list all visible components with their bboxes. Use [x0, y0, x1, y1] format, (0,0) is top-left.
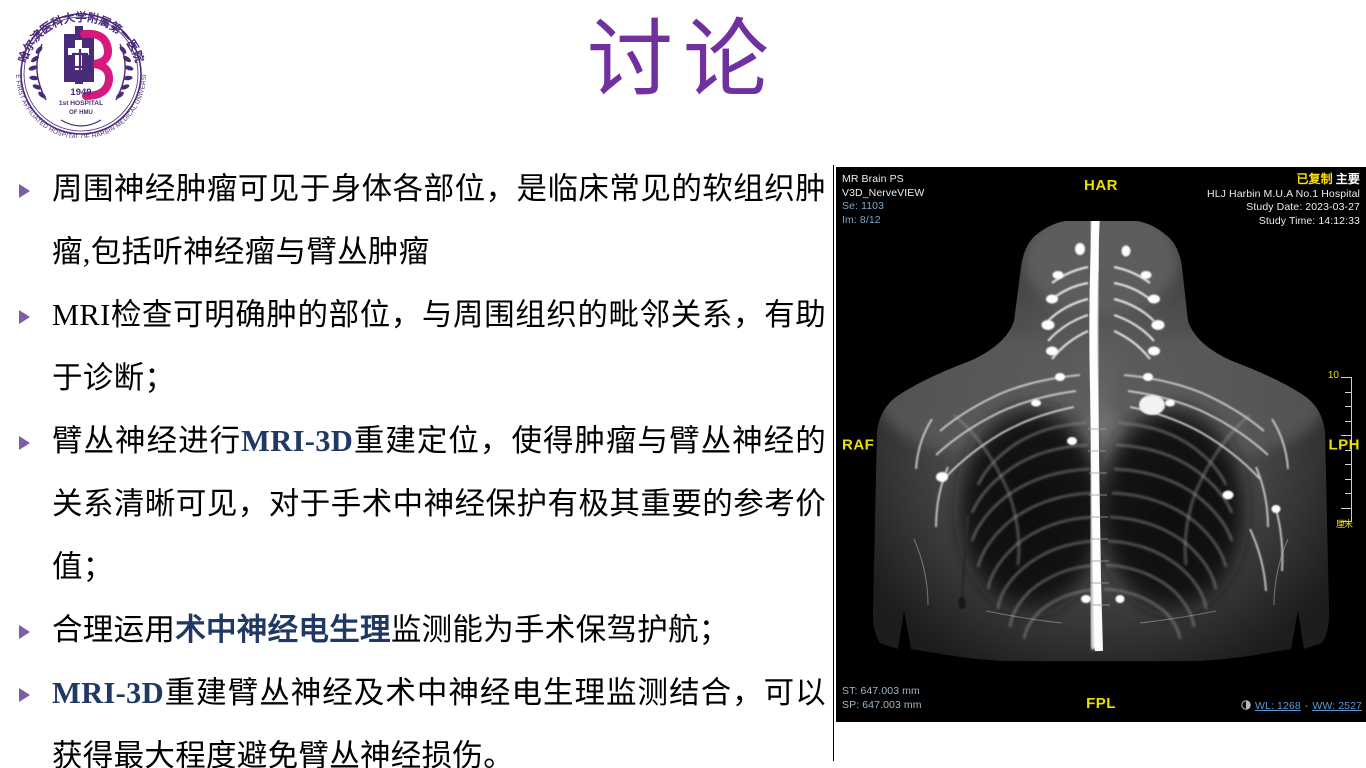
ruler-tick — [1341, 377, 1352, 378]
ruler-tick — [1341, 435, 1352, 436]
mri-viewer-panel[interactable]: MR Brain PS V3D_NerveVIEW Se: 1103 Im: 8… — [836, 167, 1366, 722]
list-item: 周围神经肿瘤可见于身体各部位，是临床常见的软组织肿瘤,包括听神经瘤与臂丛肿瘤 — [8, 158, 826, 284]
ruler-tick — [1345, 464, 1352, 465]
mri-slice-position: SP: 647.003 mm — [842, 699, 922, 713]
mri-primary-badge: 主要 — [1336, 172, 1360, 186]
bullet-list: 周围神经肿瘤可见于身体各部位，是临床常见的软组织肿瘤,包括听神经瘤与臂丛肿瘤 M… — [8, 158, 826, 760]
mri-copied-badge: 已复制 — [1296, 172, 1332, 186]
list-item: 合理运用术中神经电生理监测能为手术保驾护航； — [8, 599, 826, 662]
mri-series-number: Se: 1103 — [842, 200, 924, 214]
content-divider — [833, 165, 834, 761]
ruler-tick — [1345, 493, 1352, 494]
bullet-highlight-neuromonitoring: 术中神经电生理 — [175, 613, 391, 647]
ruler-tick — [1345, 450, 1352, 451]
mri-overlay-top-left: MR Brain PS V3D_NerveVIEW Se: 1103 Im: 8… — [842, 173, 924, 227]
window-level-value[interactable]: WL: 1268 — [1255, 700, 1301, 714]
ruler-tick — [1341, 508, 1352, 509]
bullet-highlight-mri-3d: MRI-3D — [241, 424, 353, 458]
mri-overlay-top-right: 已复制 主要 HLJ Harbin M.U.A No.1 Hospital St… — [1207, 173, 1360, 228]
mri-image[interactable] — [836, 167, 1366, 722]
contrast-icon[interactable] — [1241, 700, 1251, 715]
ruler-tick — [1345, 421, 1352, 422]
slide-title: 讨论 — [0, 6, 1366, 114]
mri-slice-thickness: ST: 647.003 mm — [842, 685, 922, 699]
mri-image-number: Im: 8/12 — [842, 214, 924, 228]
list-item: MRI-3D重建臂丛神经及术中神经电生理监测结合，可以获得最大程度避免臂丛神经损… — [8, 662, 826, 768]
ruler-tick — [1345, 392, 1352, 393]
arrow-bullet-icon — [16, 599, 46, 662]
ruler-tick — [1345, 406, 1352, 407]
ruler-label: 10 — [1328, 370, 1339, 381]
list-item: MRI检查可明确肿的部位，与周围组织的毗邻关系，有助于诊断； — [8, 284, 826, 410]
bullet-highlight-mri-3d-2: MRI-3D — [52, 676, 164, 710]
arrow-bullet-icon — [16, 662, 46, 725]
mri-window-level-control[interactable]: WL: 1268 - WW: 2527 — [1241, 700, 1362, 715]
orientation-marker-inferior: FPL — [1086, 695, 1116, 712]
bullet-text-3a: 臂丛神经进行 — [52, 424, 241, 458]
mri-protocol-name: V3D_NerveVIEW — [842, 187, 924, 201]
presentation-slide: 1949 1st HOSPITAL OF HMU 哈尔滨医科大学附属第一医院 T… — [0, 0, 1366, 768]
arrow-bullet-icon — [16, 284, 46, 347]
bullet-text-1: 周围神经肿瘤可见于身体各部位，是临床常见的软组织肿瘤,包括听神经瘤与臂丛肿瘤 — [52, 172, 826, 269]
arrow-bullet-icon — [16, 158, 46, 221]
window-separator: - — [1305, 700, 1309, 714]
mri-scale-ruler: 10 厘米 — [1318, 377, 1352, 522]
bullet-text-4a: 合理运用 — [52, 613, 175, 647]
window-width-value[interactable]: WW: 2527 — [1312, 700, 1362, 714]
mri-study-description: MR Brain PS — [842, 173, 924, 187]
bullet-text-2: MRI检查可明确肿的部位，与周围组织的毗邻关系，有助于诊断； — [52, 298, 826, 395]
bullet-text-5: 重建臂丛神经及术中神经电生理监测结合，可以获得最大程度避免臂丛神经损伤。 — [52, 676, 826, 768]
mri-institution: HLJ Harbin M.U.A No.1 Hospital — [1207, 188, 1360, 202]
mri-study-date: Study Date: 2023-03-27 — [1207, 201, 1360, 215]
mri-overlay-bottom-left: ST: 647.003 mm SP: 647.003 mm — [842, 685, 922, 712]
arrow-bullet-icon — [16, 410, 46, 473]
bullet-text-4b: 监测能为手术保驾护航； — [391, 613, 730, 647]
ruler-unit-label: 厘米 — [1336, 517, 1352, 530]
ruler-tick — [1345, 479, 1352, 480]
mri-study-time: Study Time: 14:12:33 — [1207, 215, 1360, 229]
orientation-marker-right: RAF — [842, 436, 874, 453]
orientation-marker-superior: HAR — [1084, 177, 1118, 194]
list-item: 臂丛神经进行MRI-3D重建定位，使得肿瘤与臂丛神经的关系清晰可见，对于手术中神… — [8, 410, 826, 599]
